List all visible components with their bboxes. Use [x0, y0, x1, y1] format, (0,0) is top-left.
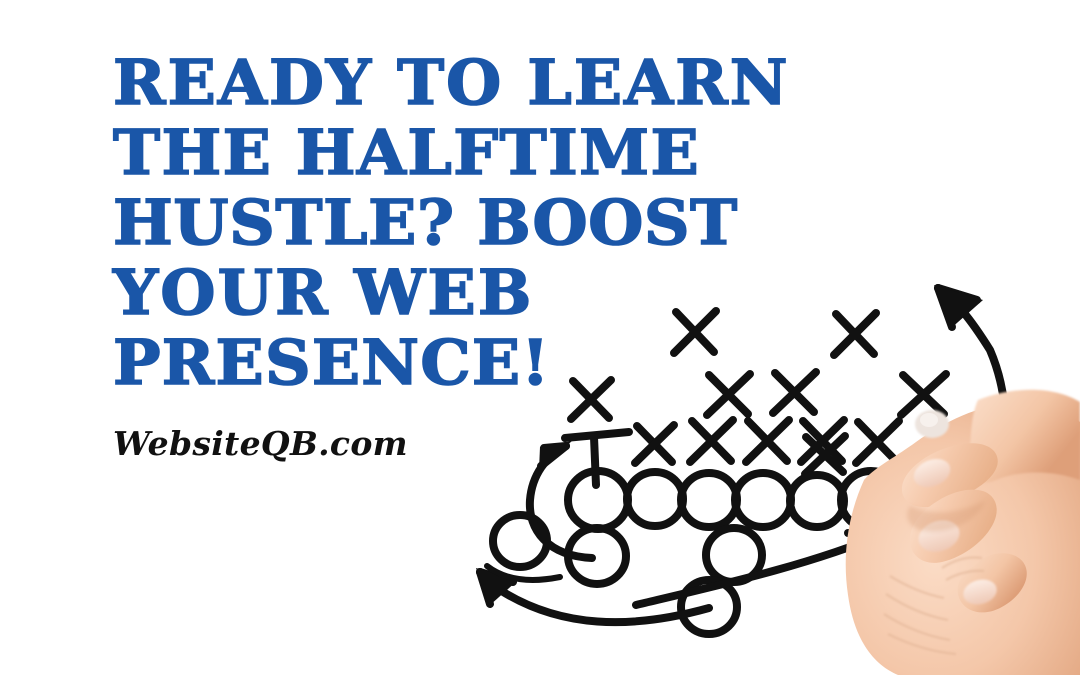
headline-line-1: READY TO LEARN — [113, 48, 847, 118]
headline-line-3: HUSTLE? BOOST — [113, 188, 847, 258]
o-mark — [735, 473, 791, 527]
o-mark — [627, 472, 683, 526]
o-mark — [841, 471, 901, 529]
o-mark — [790, 475, 844, 527]
headline-line-5: PRESENCE! — [113, 328, 847, 398]
x-mark-behind-hand — [901, 374, 946, 415]
x-mark — [690, 420, 733, 462]
x-mark — [635, 425, 674, 463]
promo-graphic-canvas: .ink { fill:none; stroke:#111111; stroke… — [0, 0, 1080, 675]
headline-block: READY TO LEARN THE HALFTIME HUSTLE? BOOS… — [113, 48, 833, 398]
slant-arrow-right — [636, 529, 893, 605]
offense-o-line-row — [568, 471, 901, 529]
x-mark — [856, 421, 899, 463]
headline-line-4: YOUR WEB — [113, 258, 847, 328]
o-mark — [681, 473, 737, 527]
curl-arrow-up — [530, 441, 592, 558]
headline-line-2: THE HALFTIME — [113, 118, 847, 188]
x-mark — [746, 420, 789, 462]
defense-x-front-row — [635, 420, 899, 474]
tagline-website-url[interactable]: WebsiteQB.com — [113, 424, 408, 464]
o-mark — [493, 515, 547, 567]
